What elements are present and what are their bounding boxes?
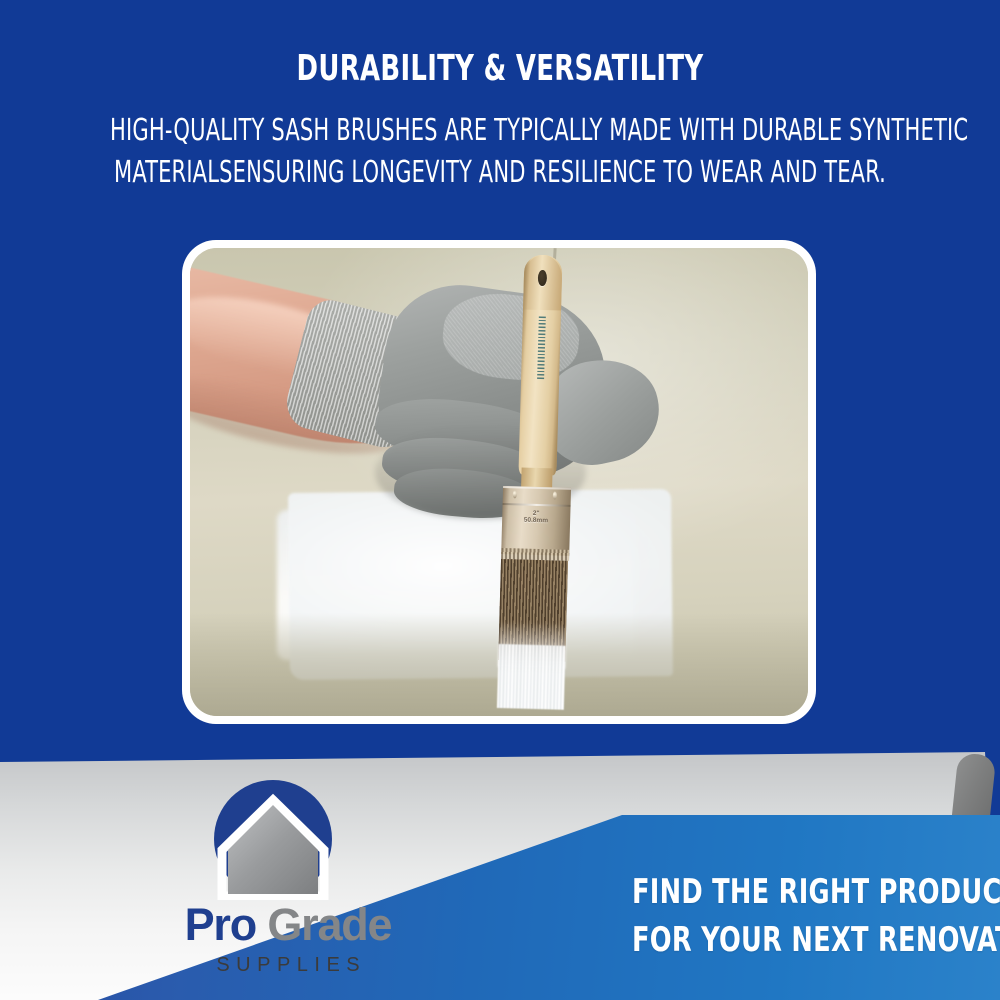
product-photo: 2" 50.8mm [190, 248, 808, 716]
brand-logo[interactable]: Pro Grade SUPPLIES [163, 778, 413, 974]
brand-wordmark: Pro Grade [163, 900, 413, 950]
subtitle-line-1: HIGH-QUALITY SASH BRUSHES ARE TYPICALLY … [110, 113, 890, 148]
page-title: DURABILITY & VERSATILITY [100, 48, 900, 89]
brush-size-label: 2" 50.8mm [502, 509, 571, 526]
subtitle-line-2: MATERIALSENSURING LONGEVITY AND RESILIEN… [110, 155, 890, 190]
cta-line-2: FOR YOUR NEXT RENOVATION [632, 920, 1000, 960]
brand-tagline: SUPPLIES [163, 954, 413, 977]
page-fold-tab [952, 752, 997, 822]
house-in-circle-icon [212, 778, 334, 900]
marketing-banner: DURABILITY & VERSATILITY HIGH-QUALITY SA… [0, 0, 1000, 1000]
brand-name-part-2: Grade [267, 899, 391, 950]
paint-brush: 2" 50.8mm [490, 254, 584, 715]
brand-name-part-1: Pro [185, 899, 256, 950]
cta-line-1: FIND THE RIGHT PRODUCT [632, 872, 1000, 912]
brush-bristle-tips [497, 644, 566, 710]
product-photo-card: 2" 50.8mm [182, 240, 816, 724]
